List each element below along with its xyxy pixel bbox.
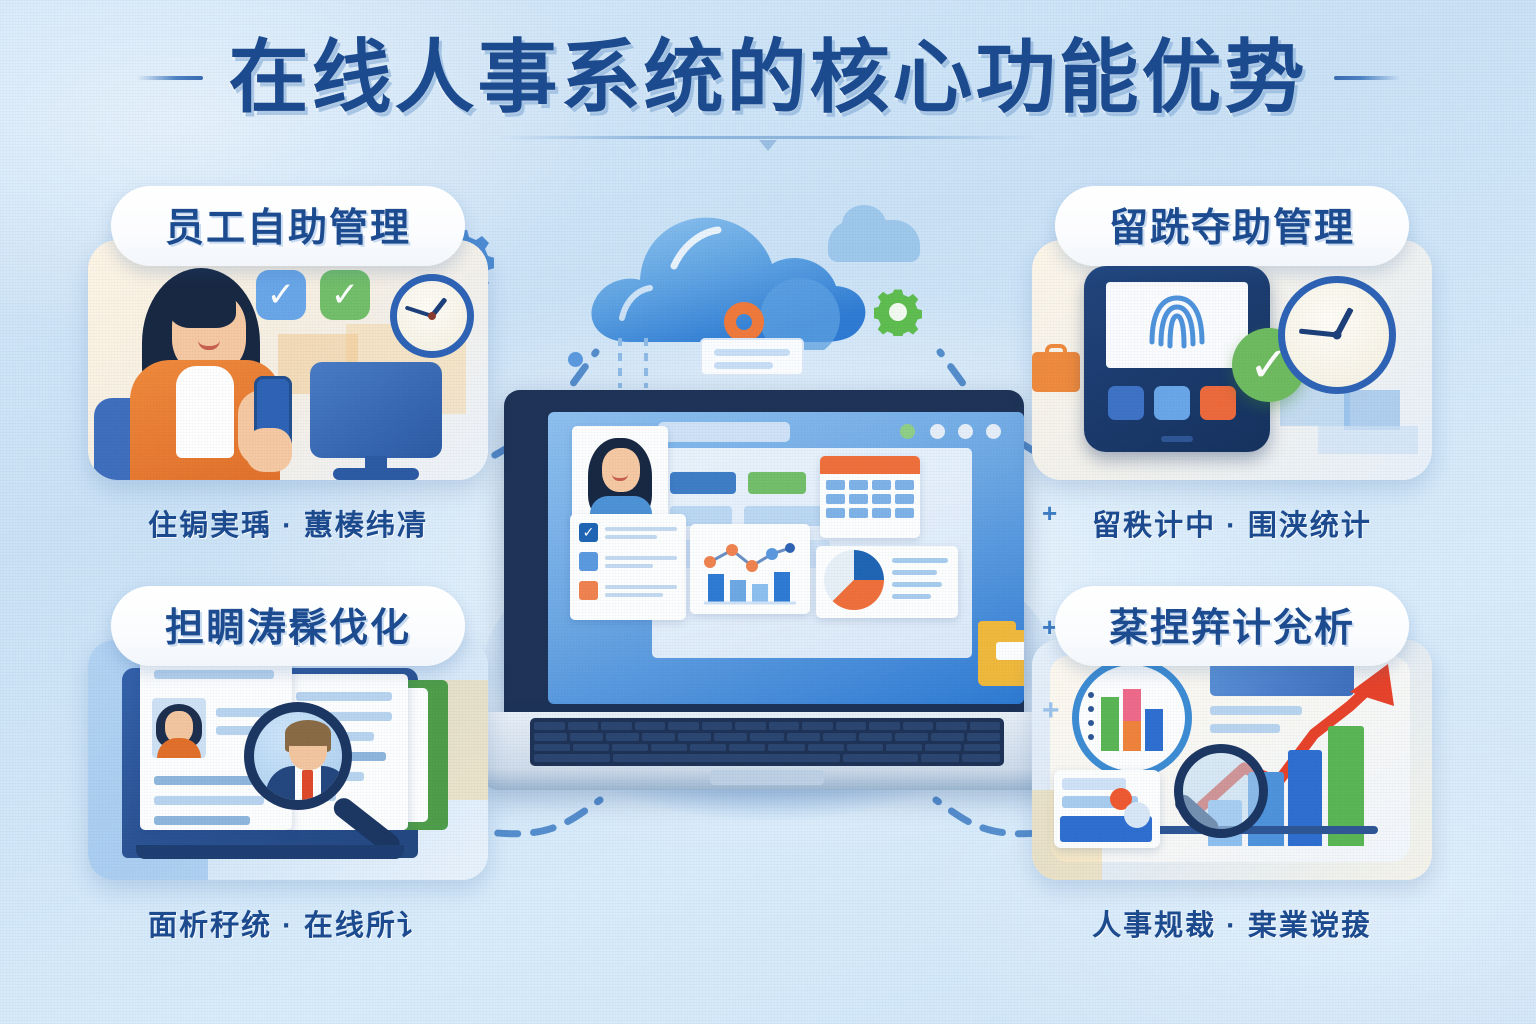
ring-orange-icon	[724, 302, 764, 342]
laptop-lid: ✓	[504, 390, 1024, 720]
central-illustration: ✓	[430, 190, 1106, 830]
checkbox-icon[interactable]	[579, 581, 598, 600]
magnifier-icon	[1174, 744, 1268, 838]
title-right-dash-icon	[1334, 76, 1400, 80]
pill-text: 棻捏筓计兊析	[1089, 597, 1375, 653]
pill-text: 担睭涛髹伐化	[145, 597, 431, 653]
checklist-row	[579, 552, 677, 571]
cloud-link-lines	[614, 338, 674, 390]
caption-recruitment: 面析秄统 · 在线所讠	[148, 902, 428, 944]
check-badge-green-icon: ✓	[320, 270, 370, 320]
calendar-card	[820, 456, 920, 538]
window-dot	[986, 424, 1001, 439]
gear-green-icon	[874, 288, 922, 336]
placeholder-chip	[744, 506, 830, 526]
clock-icon	[1278, 276, 1396, 394]
window-dot-green	[900, 424, 915, 439]
pill-label-smart-attendance: 留跣夺助管理	[1055, 186, 1409, 266]
status-chip-blue	[670, 472, 736, 494]
pie-chart-card	[816, 546, 958, 618]
caption-employee-self-service: 住锔実瑀 · 蕙楱纬凊	[148, 502, 428, 544]
pill-text: 留跣夺助管理	[1089, 197, 1375, 253]
quadrant-card-employee-self-service[interactable]: 员工自助管理 ✓ ✓ 住锔実瑀 · 蕙楱纬凊	[88, 186, 488, 544]
circular-bar-chart	[1072, 658, 1192, 778]
window-dot	[930, 424, 945, 439]
check-badge-blue-icon: ✓	[256, 270, 306, 320]
folder-icon	[978, 630, 1024, 686]
checkbox-icon[interactable]	[579, 552, 598, 571]
avatar	[582, 434, 658, 520]
pie-chart	[824, 550, 884, 610]
cloud-small-icon	[828, 220, 920, 262]
line-bar-chart-card	[690, 524, 810, 614]
laptop-device: ✓	[482, 390, 1052, 798]
pill-label-recruitment: 担睭涛髹伐化	[111, 586, 465, 666]
laptop-trackpad[interactable]	[710, 770, 824, 785]
checklist-row	[579, 581, 677, 600]
illustration-attendance-device: ✓	[1032, 240, 1432, 480]
fingerprint-icon	[1148, 292, 1206, 354]
window-dot	[958, 424, 973, 439]
dot-blue-icon	[568, 352, 583, 367]
calendar-grid	[820, 474, 920, 524]
briefcase-icon	[1032, 352, 1080, 392]
page-title: 在线人事系统的核心功能优势	[229, 36, 1308, 120]
title-underline-icon	[498, 136, 1038, 139]
caption-analytics: 人事规裁 · 枽業谠菝	[1092, 902, 1372, 944]
page-header: 在线人事系统的核心功能优势	[0, 36, 1536, 139]
clock-icon	[390, 274, 474, 358]
checkbox-checked-icon[interactable]: ✓	[579, 523, 598, 542]
employee-avatar-card	[572, 426, 668, 526]
pill-label-analytics: 棻捏筓计兊析	[1055, 586, 1409, 666]
checklist-row: ✓	[579, 523, 677, 542]
quadrant-card-analytics[interactable]: 棻捏筓计兊析 +	[1032, 586, 1432, 944]
quadrant-card-smart-attendance[interactable]: 留跣夺助管理 ✓ 留秩计中 · 围浃统计	[1032, 186, 1432, 544]
checklist-card: ✓	[570, 514, 686, 620]
laptop-screen: ✓	[548, 412, 1024, 704]
pill-text: 员工自助管理	[145, 197, 431, 253]
chart-svg	[698, 532, 802, 606]
quadrant-card-recruitment[interactable]: 担睭涛髹伐化	[88, 586, 488, 944]
candidate-avatar	[152, 698, 206, 758]
document-card-icon	[700, 338, 804, 376]
illustration-analytics: +	[1032, 640, 1432, 880]
calendar-header	[820, 456, 920, 474]
caption-smart-attendance: 留秩计中 · 围浃统计	[1092, 502, 1372, 544]
magnifier-icon	[244, 702, 352, 810]
mini-chart-card	[1054, 770, 1160, 848]
illustration-woman-with-phone: ✓ ✓	[88, 240, 488, 480]
monitor-icon	[310, 362, 442, 458]
status-chip-green	[748, 472, 806, 494]
pie-legend-lines	[892, 558, 948, 599]
laptop-base	[482, 712, 1052, 790]
laptop-keyboard[interactable]	[530, 718, 1004, 766]
title-left-dash-icon	[137, 76, 203, 80]
pill-label-employee-self-service: 员工自助管理	[111, 186, 465, 266]
window-topbar	[658, 422, 790, 442]
illustration-resume-screening	[88, 640, 488, 880]
title-caret-icon	[759, 140, 777, 151]
